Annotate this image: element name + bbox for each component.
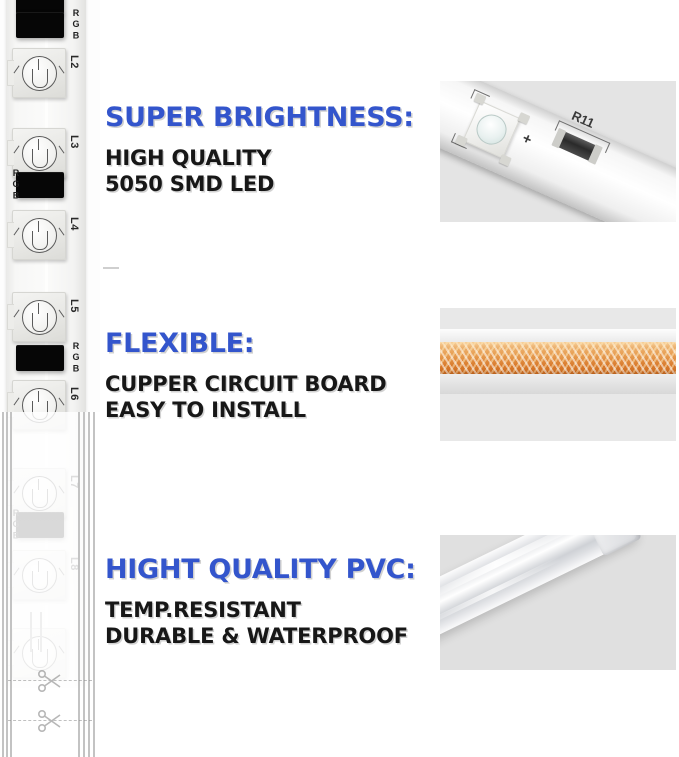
led-dome-icon	[22, 218, 57, 253]
clear-pvc-tube	[440, 535, 639, 642]
led-label-l2: L2	[64, 55, 80, 69]
led-segment-left	[14, 145, 20, 153]
rgb-ic-chip	[16, 12, 64, 38]
rgb-chip-label: RGB	[68, 8, 81, 42]
feature-heading: FLEXIBLE:	[105, 330, 435, 358]
copper-braid-wrap	[440, 308, 676, 441]
photo-smd-led-macro: R11 D2 +	[440, 81, 676, 222]
feature-line-1: TEMP.RESISTANT	[105, 598, 435, 624]
led-segment-left	[14, 227, 20, 235]
led-label-l3: L3	[64, 135, 80, 149]
led-strip-photo: RGB L2 L3 RGB L4 L5 RGB	[0, 0, 100, 757]
led-label-l6: L6	[64, 387, 80, 401]
product-infographic: RGB L2 L3 RGB L4 L5 RGB	[0, 0, 679, 757]
led-label-l5: L5	[64, 299, 80, 313]
photo-copper-braid	[440, 308, 676, 441]
feature-line-1: HIGH QUALITY	[105, 146, 435, 172]
photo-pvc-tube	[440, 535, 676, 670]
cut-mark-scissors	[8, 668, 92, 694]
braid-tube-bottom	[440, 374, 676, 394]
cut-mark-scissors	[8, 708, 92, 734]
led-dome-icon	[22, 136, 57, 171]
feature-line-2: DURABLE & WATERPROOF	[105, 624, 435, 650]
rgb-ic-chip	[16, 345, 64, 371]
led-package-l5	[12, 292, 66, 342]
tube-highlight-secondary	[440, 556, 562, 626]
feature-heading: HIGHT QUALITY PVC:	[105, 556, 435, 584]
rgb-chip-label: RGB	[8, 168, 21, 202]
scissors-icon	[38, 670, 62, 692]
feature-line-2: 5050 SMD LED	[105, 172, 435, 198]
led-package-l4	[12, 210, 66, 260]
led-segment-left	[14, 309, 20, 317]
scissors-icon	[38, 710, 62, 732]
silkscreen-label-plus: +	[520, 130, 535, 149]
led-segment-left	[14, 397, 20, 405]
pvc-sleeve-overlay	[0, 412, 100, 757]
pcb-strip-diagonal: R11 D2 +	[440, 81, 676, 222]
feature-text-column: SUPER BRIGHTNESS: HIGH QUALITY 5050 SMD …	[105, 0, 435, 757]
tube-highlight	[440, 535, 573, 605]
sleeve-wash	[0, 412, 100, 757]
led-segment-left	[14, 65, 20, 73]
led-package-l2	[12, 48, 66, 98]
braid-sheen	[440, 342, 676, 354]
led-dome-icon	[22, 300, 57, 335]
smd-5050-led	[462, 100, 520, 158]
feature-line-1: CUPPER CIRCUIT BOARD	[105, 372, 435, 398]
led-label-l4: L4	[64, 217, 80, 231]
feature-block-brightness: SUPER BRIGHTNESS: HIGH QUALITY 5050 SMD …	[105, 104, 435, 198]
rgb-chip-label: RGB	[68, 341, 81, 375]
feature-heading: SUPER BRIGHTNESS:	[105, 104, 435, 132]
led-dome-icon	[22, 56, 57, 91]
tube-cut-end	[579, 535, 641, 556]
feature-block-flexible: FLEXIBLE: CUPPER CIRCUIT BOARD EASY TO I…	[105, 330, 435, 424]
rgb-ic-chip	[16, 172, 64, 198]
braid-tube-top	[440, 329, 676, 343]
feature-line-2: EASY TO INSTALL	[105, 398, 435, 424]
feature-block-pvc: HIGHT QUALITY PVC: TEMP.RESISTANT DURABL…	[105, 556, 435, 650]
